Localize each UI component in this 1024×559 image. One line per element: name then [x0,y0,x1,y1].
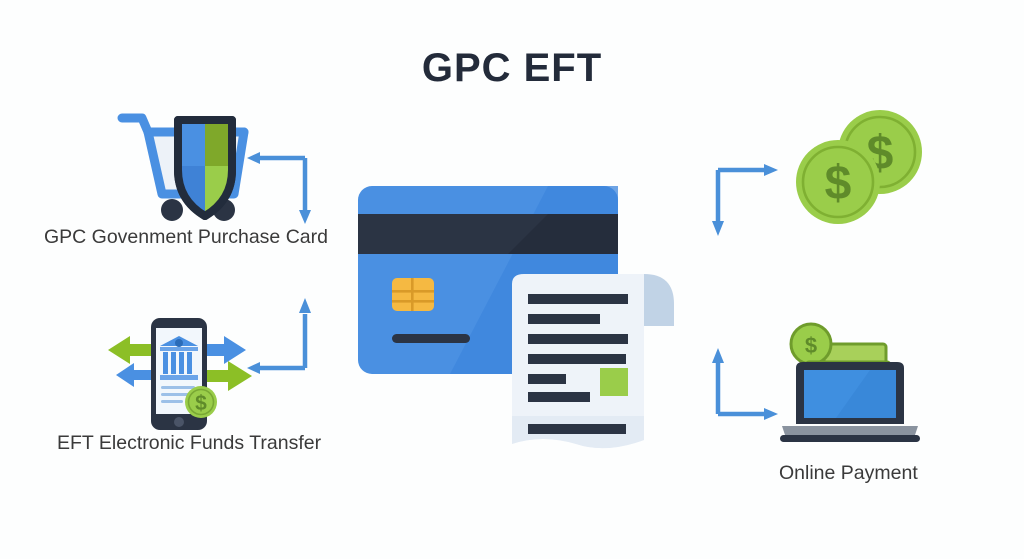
elbow-arrow-right-down-icon [700,164,782,240]
svg-text:$: $ [825,157,852,210]
svg-text:$: $ [195,392,207,415]
dollar-coins-icon: $ $ [792,108,926,228]
elbow-arrow-right-up-icon [700,344,782,420]
label-eft-electronic-funds-transfer: EFT Electronic Funds Transfer [57,432,321,455]
label-gpc-government-purchase-card: GPC Govenment Purchase Card [44,226,328,249]
shield-cart-icon [112,104,252,226]
page-title: GPC EFT [0,46,1024,91]
infographic-canvas: GPC EFT [0,0,1024,559]
label-online-payment: Online Payment [779,462,918,485]
elbow-arrow-left-up-icon [243,292,323,374]
laptop-cash-icon: $ $ [778,322,922,444]
mobile-bank-transfer-icon: $ [104,316,254,432]
svg-text:$: $ [805,333,817,358]
elbow-arrow-left-down-icon [243,152,323,230]
receipt-invoice-icon [506,268,688,456]
